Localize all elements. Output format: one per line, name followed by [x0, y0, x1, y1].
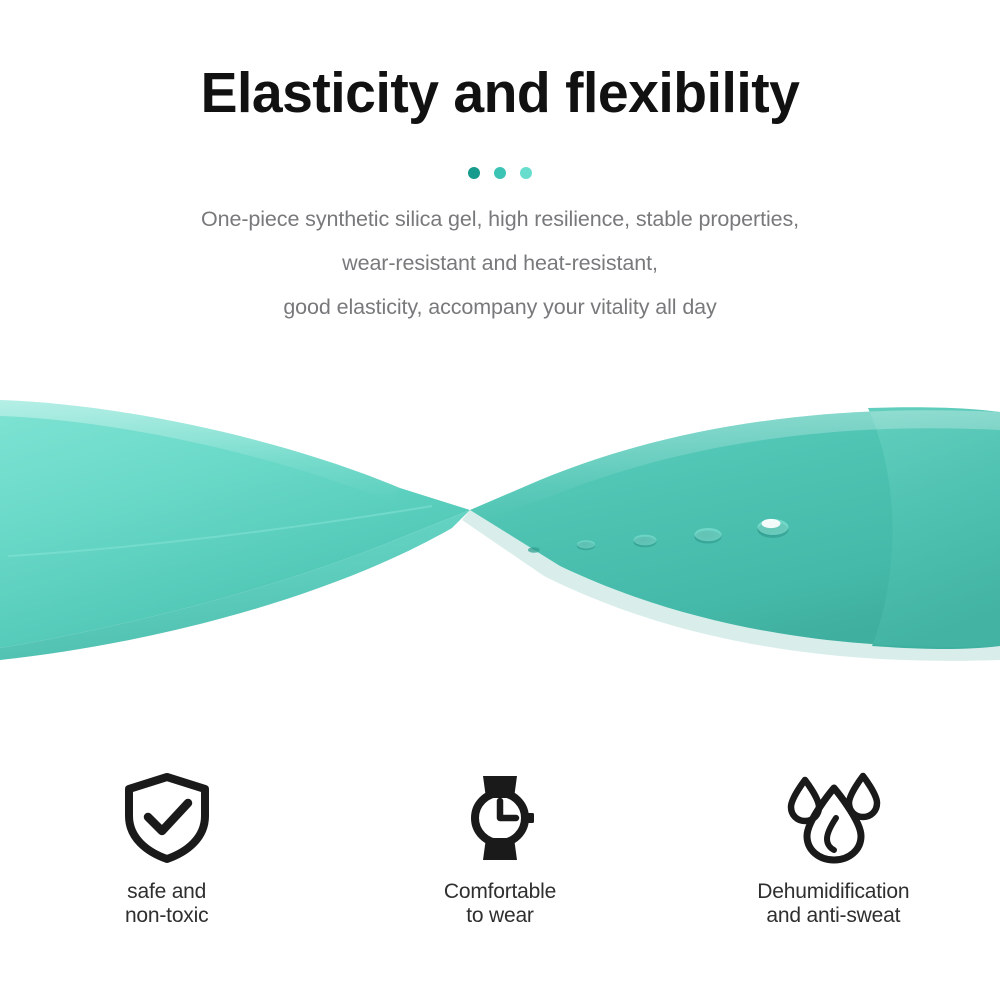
feature-label-safe-line-2: non-toxic [125, 904, 208, 928]
feature-label-dehumidification: Dehumidification and anti-sweat [757, 880, 909, 928]
product-photo [0, 360, 1000, 690]
band-hole-2 [634, 535, 657, 548]
shield-check-icon [121, 770, 213, 866]
feature-item-dehumidification: Dehumidification and anti-sweat [667, 770, 1000, 945]
feature-label-dehumidification-line-2: and anti-sweat [757, 904, 909, 928]
separator-dot-mid-icon [494, 167, 506, 179]
feature-row: safe and non-toxic [0, 770, 1000, 945]
description-line-2: wear-resistant and heat-resistant, [0, 241, 1000, 285]
feature-item-comfort: Comfortable to wear [333, 770, 666, 945]
band-hole-4 [758, 519, 789, 538]
separator-dot-light-icon [520, 167, 532, 179]
feature-label-safe-line-1: safe and [125, 880, 208, 904]
feature-label-comfort-line-1: Comfortable [444, 880, 556, 904]
feature-label-dehumidification-line-1: Dehumidification [757, 880, 909, 904]
band-hole-3 [695, 528, 722, 544]
feature-item-safe: safe and non-toxic [0, 770, 333, 945]
feature-label-comfort-line-2: to wear [444, 904, 556, 928]
description-line-1: One-piece synthetic silica gel, high res… [0, 197, 1000, 241]
page-description: One-piece synthetic silica gel, high res… [0, 197, 1000, 329]
product-feature-page: Elasticity and flexibility One-piece syn… [0, 0, 1000, 1000]
band-hole-0 [528, 547, 540, 553]
band-hole-1 [577, 540, 595, 550]
description-line-3: good elasticity, accompany your vitality… [0, 285, 1000, 329]
separator-dot-dark-icon [468, 167, 480, 179]
feature-label-comfort: Comfortable to wear [444, 880, 556, 928]
wristwatch-icon [454, 770, 546, 866]
page-title: Elasticity and flexibility [15, 58, 985, 128]
feature-label-safe: safe and non-toxic [125, 880, 208, 928]
water-drops-icon [779, 770, 887, 866]
dot-separator [0, 167, 1000, 179]
